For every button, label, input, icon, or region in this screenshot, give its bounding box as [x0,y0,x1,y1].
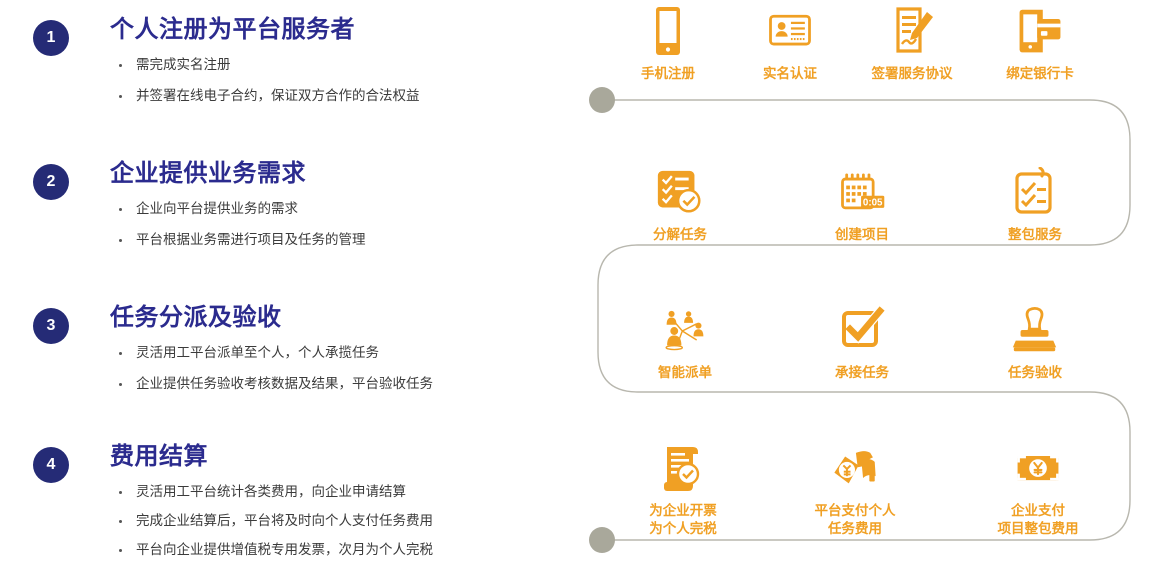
flow-node-label: 平台支付个人 任务费用 [815,502,896,538]
flow-node-label: 智能派单 [658,364,712,382]
cash-payment-icon [829,443,881,495]
id-card-icon [764,6,816,58]
calendar-clock-icon: 0:05 [836,167,888,219]
step-item-4: 4 费用结算 灵活用工平台统计各类费用，向企业申请结算 完成企业结算后，平台将及… [0,443,580,570]
step-item-1: 1 个人注册为平台服务者 需完成实名注册 并签署在线电子合约，保证双方合作的合法… [0,16,580,118]
step-body-1: 个人注册为平台服务者 需完成实名注册 并签署在线电子合约，保证双方合作的合法权益 [110,16,580,105]
flow-node-package-service[interactable]: 整包服务 [975,167,1095,244]
flow-node-label: 手机注册 [641,65,695,83]
mobile-phone-icon [642,6,694,58]
flow-node-task-acceptance[interactable]: 任务验收 [975,305,1095,382]
steps-column: 1 个人注册为平台服务者 需完成实名注册 并签署在线电子合约，保证双方合作的合法… [0,0,580,569]
step-bullets-1: 需完成实名注册 并签署在线电子合约，保证双方合作的合法权益 [110,56,580,105]
people-network-icon [659,305,711,357]
flow-start-dot [589,87,615,113]
step-title-1: 个人注册为平台服务者 [110,16,580,44]
flow-node-label: 实名认证 [763,65,817,83]
flow-node-mobile-register[interactable]: 手机注册 [608,6,728,83]
step-bullets-4: 灵活用工平台统计各类费用，向企业申请结算 完成企业结算后，平台将及时向个人支付任… [110,483,580,560]
step-number-badge-1: 1 [33,20,69,56]
flow-node-label: 创建项目 [835,226,889,244]
flow-node-smart-dispatch[interactable]: 智能派单 [625,305,745,382]
phone-bank-card-icon [1014,6,1066,58]
flow-node-label: 分解任务 [653,226,707,244]
step-title-4: 费用结算 [110,443,580,471]
flow-end-dot [589,527,615,553]
flow-node-label: 绑定银行卡 [1006,65,1074,83]
sign-document-icon [886,6,938,58]
bullet-item: 完成企业结算后，平台将及时向个人支付任务费用 [110,512,580,530]
step-title-2: 企业提供业务需求 [110,160,580,188]
calendar-badge-text: 0:05 [863,198,883,209]
step-number-badge-2: 2 [33,164,69,200]
flow-node-enterprise-pay-package[interactable]: 企业支付 项目整包费用 [978,443,1098,538]
flow-node-label: 整包服务 [1008,226,1062,244]
flow-node-label: 为企业开票 为个人完税 [649,502,717,538]
bullet-item: 需完成实名注册 [110,56,580,74]
bullet-item: 平台向企业提供增值税专用发票，次月为个人完税 [110,541,580,559]
yuan-banknote-icon [1012,443,1064,495]
bullet-item: 灵活用工平台统计各类费用，向企业申请结算 [110,483,580,501]
step-body-2: 企业提供业务需求 企业向平台提供业务的需求 平台根据业务需进行项目及任务的管理 [110,160,580,249]
flow-node-label: 承接任务 [835,364,889,382]
flow-node-label: 任务验收 [1008,364,1062,382]
flow-node-sign-agreement[interactable]: 签署服务协议 [852,6,972,83]
flow-node-split-task[interactable]: 分解任务 [620,167,740,244]
step-bullets-2: 企业向平台提供业务的需求 平台根据业务需进行项目及任务的管理 [110,200,580,249]
checkbox-tick-icon [836,305,888,357]
step-title-3: 任务分派及验收 [110,304,580,332]
infographic-page: 1 个人注册为平台服务者 需完成实名注册 并签署在线电子合约，保证双方合作的合法… [0,0,1171,569]
step-item-3: 3 任务分派及验收 灵活用工平台派单至个人，个人承揽任务 企业提供任务验收考核数… [0,304,580,406]
bullet-item: 灵活用工平台派单至个人，个人承揽任务 [110,344,580,362]
flow-node-label: 签署服务协议 [872,65,953,83]
flow-node-platform-pay-individual[interactable]: 平台支付个人 任务费用 [795,443,915,538]
step-item-2: 2 企业提供业务需求 企业向平台提供业务的需求 平台根据业务需进行项目及任务的管… [0,160,580,262]
step-bullets-3: 灵活用工平台派单至个人，个人承揽任务 企业提供任务验收考核数据及结果，平台验收任… [110,344,580,393]
step-number-badge-4: 4 [33,447,69,483]
bullet-item: 企业提供任务验收考核数据及结果，平台验收任务 [110,375,580,393]
flow-node-bind-bankcard[interactable]: 绑定银行卡 [980,6,1100,83]
stamp-icon [1009,305,1061,357]
checklist-approved-icon [654,167,706,219]
flow-column: 手机注册 [580,0,1171,569]
clipboard-check-icon [1009,167,1061,219]
bullet-item: 企业向平台提供业务的需求 [110,200,580,218]
step-number-badge-3: 3 [33,308,69,344]
flow-node-label: 企业支付 项目整包费用 [998,502,1079,538]
bullet-item: 并签署在线电子合约，保证双方合作的合法权益 [110,87,580,105]
invoice-certified-icon [657,443,709,495]
flow-node-realname-auth[interactable]: 实名认证 [730,6,850,83]
flow-node-create-project[interactable]: 0:05 创建项目 [802,167,922,244]
step-body-4: 费用结算 灵活用工平台统计各类费用，向企业申请结算 完成企业结算后，平台将及时向… [110,443,580,559]
flow-node-accept-task[interactable]: 承接任务 [802,305,922,382]
step-body-3: 任务分派及验收 灵活用工平台派单至个人，个人承揽任务 企业提供任务验收考核数据及… [110,304,580,393]
flow-node-invoice-tax[interactable]: 为企业开票 为个人完税 [623,443,743,538]
bullet-item: 平台根据业务需进行项目及任务的管理 [110,231,580,249]
